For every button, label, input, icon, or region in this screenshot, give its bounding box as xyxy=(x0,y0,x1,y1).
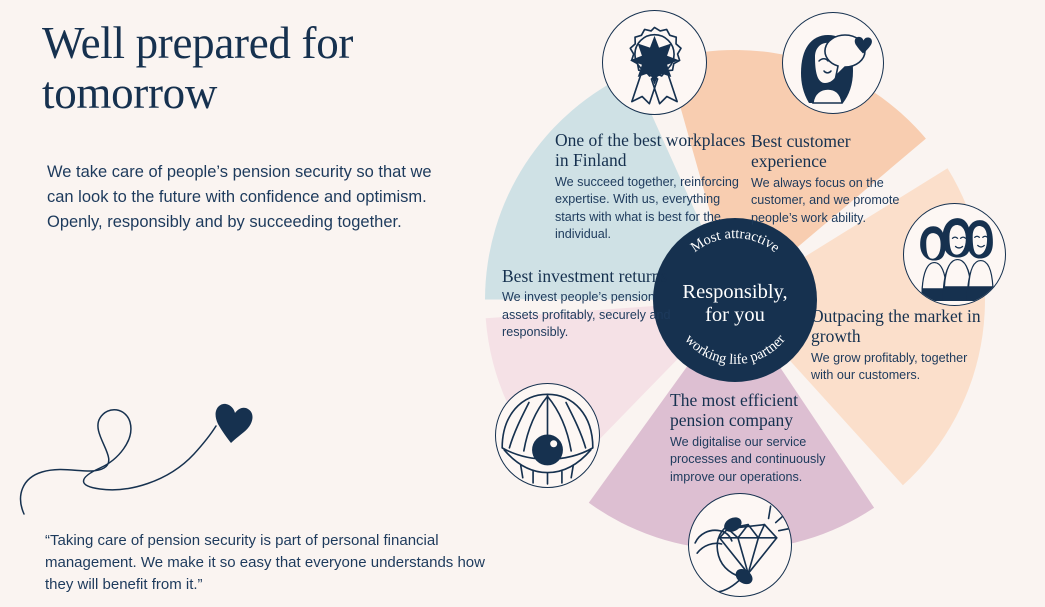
center-line-1: Responsibly, xyxy=(682,281,787,303)
value-wheel: Most attractive working life partner Res… xyxy=(455,0,1045,607)
quote-text: “Taking care of pension security is part… xyxy=(45,530,485,597)
center-line-2: for you xyxy=(705,304,765,326)
hand-diamond-icon xyxy=(688,493,792,597)
oyster-pearl-icon xyxy=(495,383,600,488)
page-title: Well prepared for tomorrow xyxy=(42,18,472,119)
left-content-column: Well prepared for tomorrow We take care … xyxy=(0,0,500,607)
person-heart-bubble-icon xyxy=(782,12,884,114)
award-ribbon-icon xyxy=(602,10,707,115)
looping-line-heart-icon xyxy=(8,390,253,515)
three-people-icon xyxy=(903,203,1006,306)
intro-paragraph: We take care of people’s pension securit… xyxy=(47,160,459,235)
